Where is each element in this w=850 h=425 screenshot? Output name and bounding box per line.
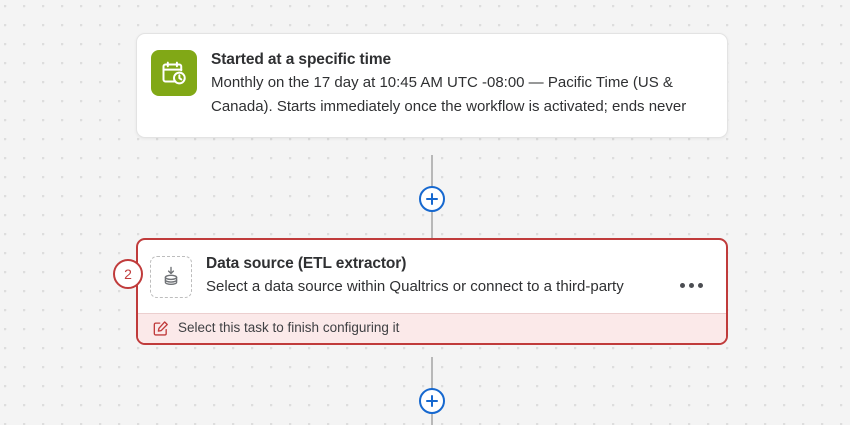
node-title: Data source (ETL extractor) (206, 254, 660, 274)
workflow-node-trigger[interactable]: Started at a specific time Monthly on th… (136, 33, 728, 138)
node-error-message: Select this task to finish configuring i… (178, 319, 399, 337)
workflow-canvas[interactable]: Started at a specific time Monthly on th… (0, 0, 850, 425)
edit-square-icon (152, 320, 169, 337)
node-text: Started at a specific time Monthly on th… (211, 50, 709, 119)
database-import-icon (150, 256, 192, 298)
node-body: Started at a specific time Monthly on th… (151, 50, 709, 119)
node-title: Started at a specific time (211, 50, 709, 70)
node-error-footer: Select this task to finish configuring i… (138, 313, 726, 343)
workflow-node-etl-extractor[interactable]: Data source (ETL extractor) Select a dat… (136, 238, 728, 345)
step-number-badge: 2 (113, 259, 143, 289)
kebab-menu-icon[interactable] (674, 272, 708, 298)
calendar-clock-icon (151, 50, 197, 96)
node-description: Monthly on the 17 day at 10:45 AM UTC -0… (211, 71, 709, 119)
node-body: Data source (ETL extractor) Select a dat… (138, 240, 726, 313)
add-step-button-1[interactable] (419, 186, 445, 212)
add-step-button-2[interactable] (419, 388, 445, 414)
node-description: Select a data source within Qualtrics or… (206, 275, 636, 299)
node-text: Data source (ETL extractor) Select a dat… (206, 254, 660, 299)
